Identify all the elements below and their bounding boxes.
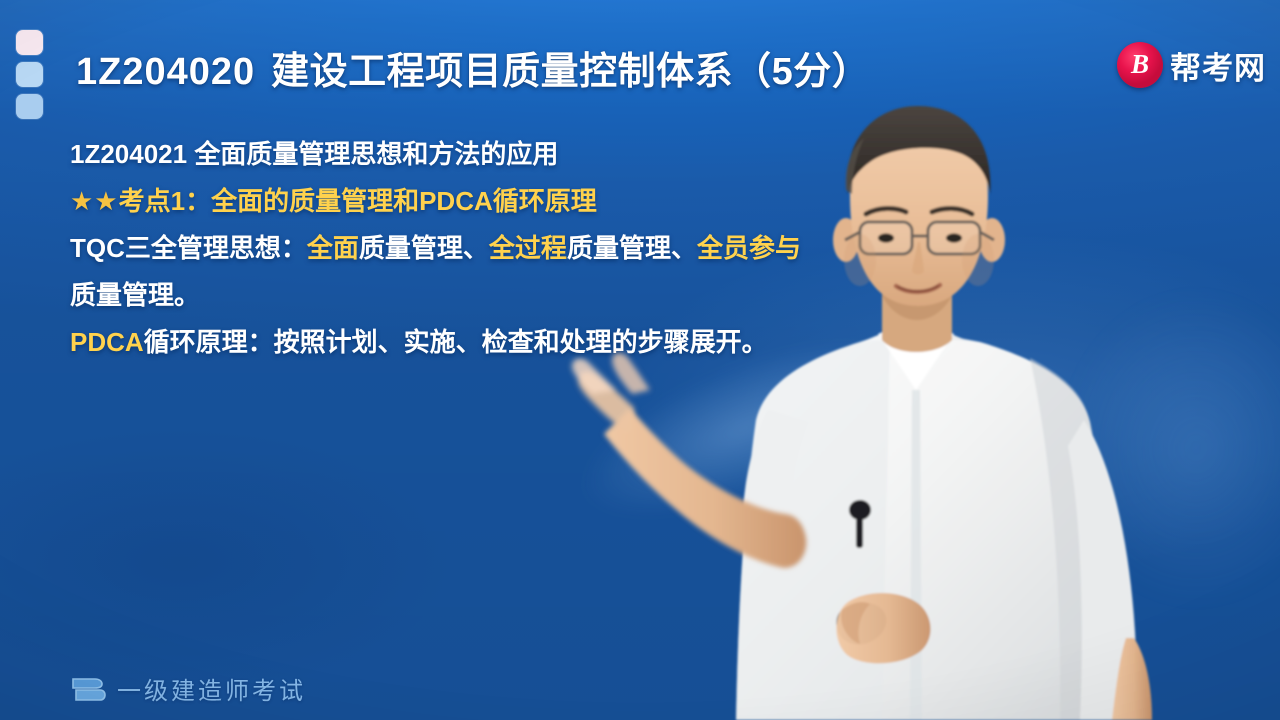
frame-vignette: [0, 0, 1280, 720]
video-slide-frame: 1Z204020建设工程项目质量控制体系（5分） B 帮考网 1Z204021 …: [0, 0, 1280, 720]
